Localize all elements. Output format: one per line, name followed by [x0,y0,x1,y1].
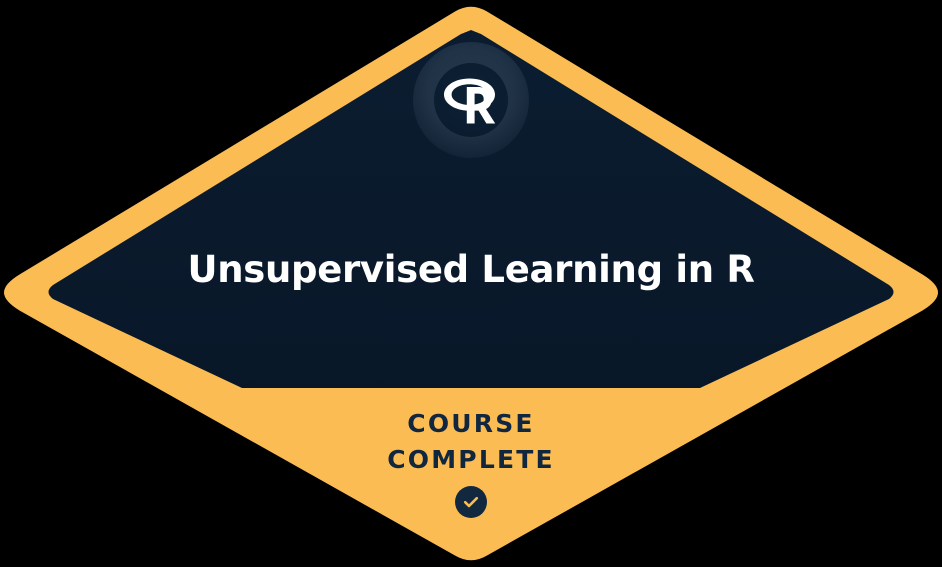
course-title: Unsupervised Learning in R [0,246,942,294]
status-line-course: COURSE [0,406,942,442]
badge-canvas: Unsupervised Learning in R COURSE COMPLE… [0,0,942,567]
status-line-complete: COMPLETE [0,442,942,478]
r-language-logo [413,42,529,158]
completion-status-block: COURSE COMPLETE [0,406,942,518]
r-logo-glyph [441,70,501,130]
checkmark-icon [462,493,480,511]
checkmark-badge [455,486,487,518]
